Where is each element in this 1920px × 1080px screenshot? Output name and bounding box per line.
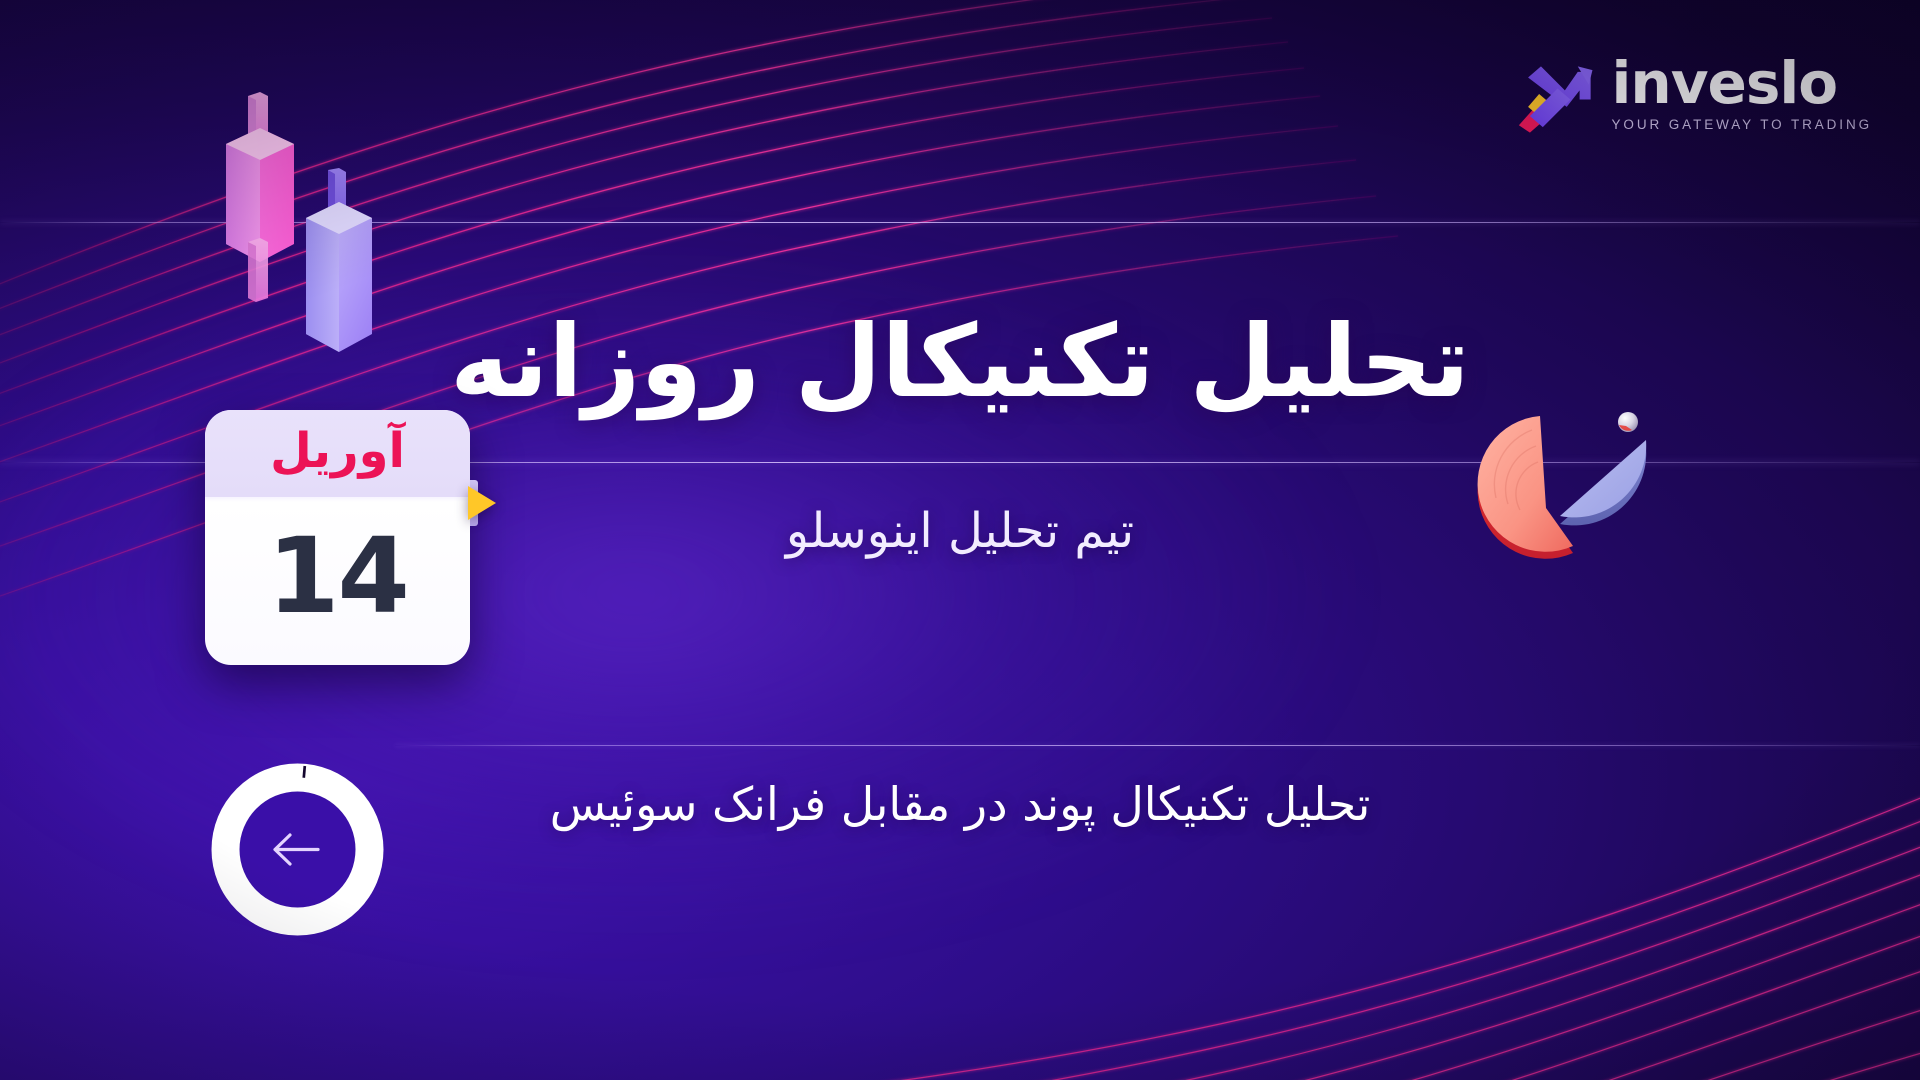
calendar-body: آوریل 14: [205, 410, 470, 665]
brand-tagline: YOUR GATEWAY TO TRADING: [1612, 117, 1872, 132]
divider-top: [0, 222, 1920, 223]
slide-canvas: inveslo YOUR GATEWAY TO TRADING تحلیل تک…: [0, 0, 1920, 1080]
calendar-month: آوریل: [270, 427, 405, 479]
calendar-header: آوریل: [205, 410, 470, 497]
brand-name: inveslo: [1612, 56, 1838, 111]
inveslo-arrow-logo-icon: [1506, 48, 1598, 140]
calendar-tab-arrow-icon: [468, 486, 496, 520]
cta-badge[interactable]: الان ببین • الان ببین •: [210, 762, 385, 937]
brand-logo[interactable]: inveslo YOUR GATEWAY TO TRADING: [1506, 48, 1872, 140]
calendar-day: 14: [205, 497, 470, 665]
page-title: تحلیل تکنیکال روزانه: [0, 303, 1920, 421]
calendar-card: آوریل 14: [205, 410, 470, 665]
candlestick-pink-icon: [196, 92, 324, 322]
description-text: تحلیل تکنیکال پوند در مقابل فرانک سوئیس: [430, 772, 1490, 837]
divider-bottom: [395, 745, 1920, 746]
